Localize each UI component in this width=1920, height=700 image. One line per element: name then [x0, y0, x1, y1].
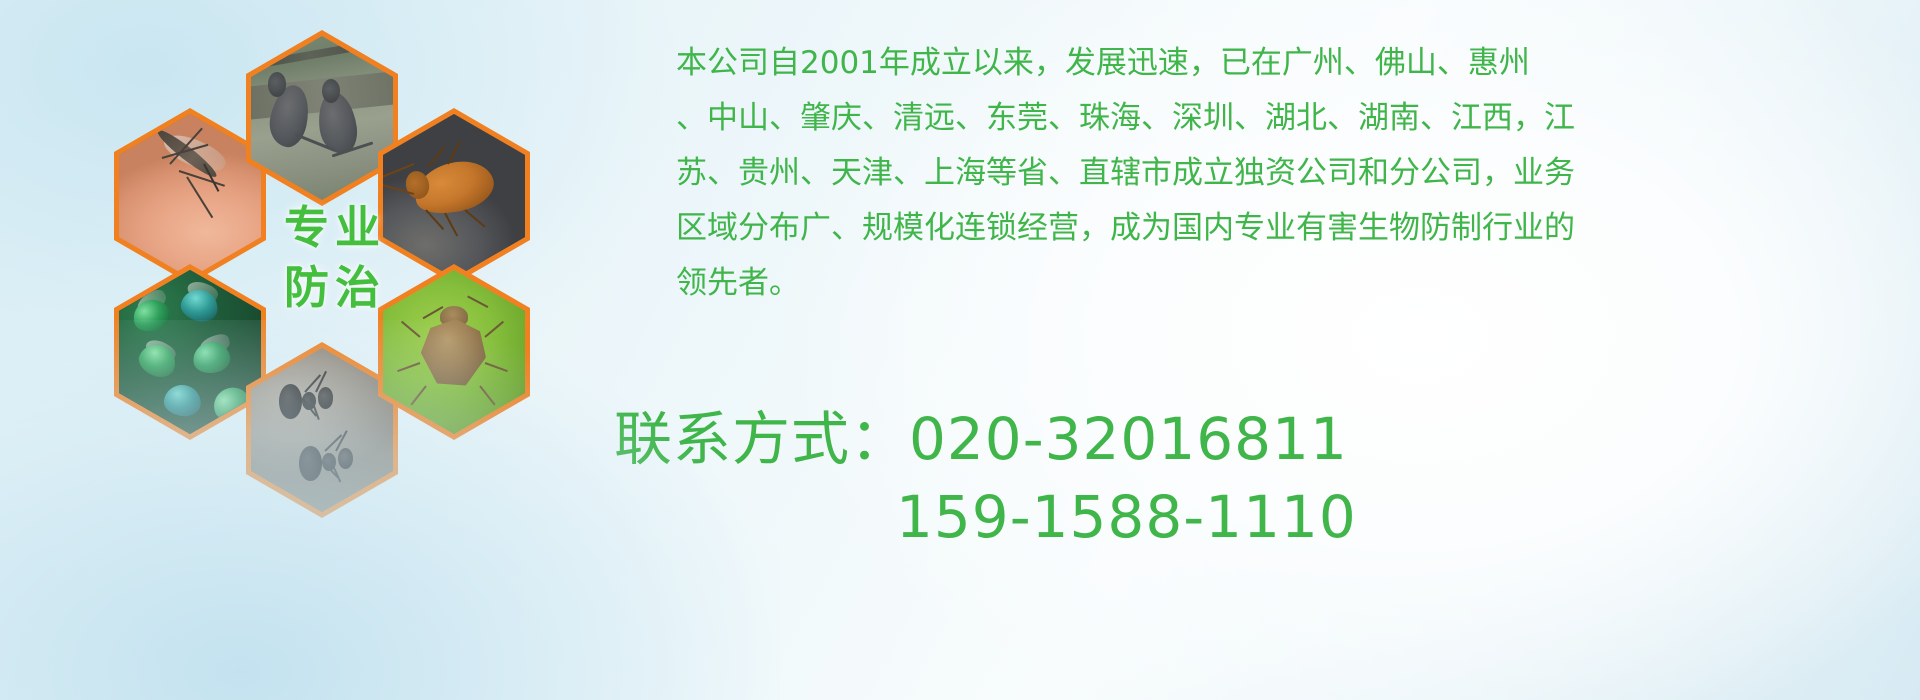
fly-icon	[119, 270, 261, 434]
intro-line-2: 、中山、肇庆、清远、东莞、珠海、深圳、湖北、湖南、江西，江	[614, 91, 1884, 146]
contact-block: 联系方式：020-32016811 159-1588-1110	[614, 400, 1894, 556]
slogan-line-1: 专业	[255, 198, 415, 258]
slogan: 专业 防治	[255, 198, 415, 319]
contact-mobile-line[interactable]: 159-1588-1110	[614, 478, 1894, 556]
intro-line-4: 区域分布广、规模化连锁经营，成为国内专业有害生物防制行业的	[614, 201, 1884, 256]
company-intro-paragraph: 本公司自2001年成立以来，发展迅速，已在广州、佛山、惠州 、中山、肇庆、清远、…	[614, 36, 1884, 311]
mosquito-icon	[119, 114, 261, 278]
ant-photo	[246, 342, 398, 518]
rat-photo-frame	[251, 36, 393, 200]
ant-icon	[251, 348, 393, 512]
mosquito-photo-frame	[119, 114, 261, 278]
mosquito-photo	[114, 108, 266, 284]
company-intro: 本公司自2001年成立以来，发展迅速，已在广州、佛山、惠州 、中山、肇庆、清远、…	[614, 36, 1884, 311]
rat-icon	[251, 36, 393, 200]
fly-photo-frame	[119, 270, 261, 434]
contact-landline-line[interactable]: 联系方式：020-32016811	[614, 400, 1894, 478]
rat-photo	[246, 30, 398, 206]
intro-line-1: 本公司自2001年成立以来，发展迅速，已在广州、佛山、惠州	[614, 36, 1884, 91]
intro-line-3: 苏、贵州、天津、上海等省、直辖市成立独资公司和分公司，业务	[614, 146, 1884, 201]
slogan-line-2: 防治	[255, 258, 415, 318]
intro-line-5: 领先者。	[614, 256, 1884, 311]
fly-photo	[114, 264, 266, 440]
ant-photo-frame	[251, 348, 393, 512]
pest-control-banner: 专业 防治 本公司自2001年成立以来，发展迅速，已在广州、佛山、惠州 、中山、…	[0, 0, 1920, 700]
